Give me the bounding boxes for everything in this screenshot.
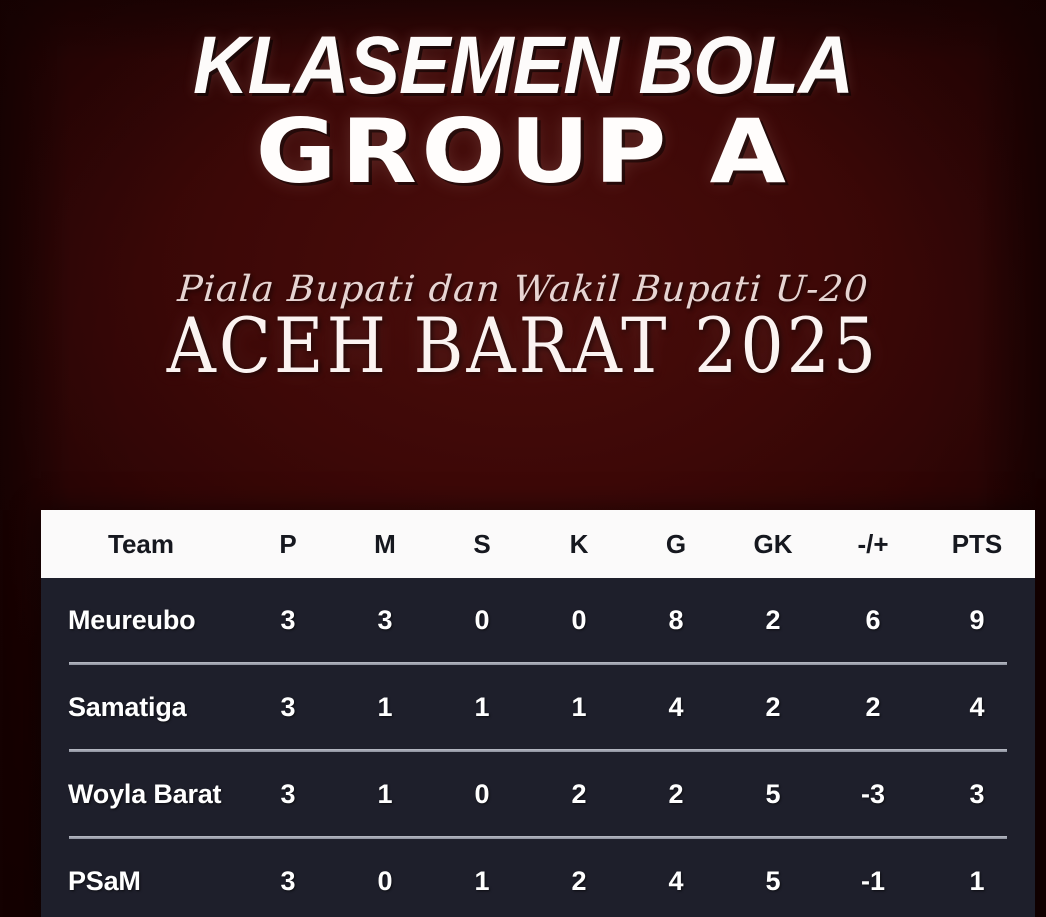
cell-gk: 5 — [723, 866, 823, 897]
cell-m: 0 — [335, 866, 435, 897]
cell-m: 3 — [335, 605, 435, 636]
table-header-row: Team P M S K G GK -/+ PTS — [41, 510, 1035, 578]
cell-team: PSaM — [41, 866, 241, 897]
cell-k: 1 — [529, 692, 629, 723]
cell-gk: 2 — [723, 692, 823, 723]
cell-diff: 6 — [823, 605, 923, 636]
cell-p: 3 — [241, 779, 335, 810]
table-row: PSaM 3 0 1 2 4 5 -1 1 — [41, 839, 1035, 917]
cell-gk: 2 — [723, 605, 823, 636]
column-header-diff: -/+ — [823, 529, 923, 560]
cell-team: Meureubo — [41, 605, 241, 636]
cell-diff: -1 — [823, 866, 923, 897]
cell-s: 1 — [435, 692, 529, 723]
table-row: Meureubo 3 3 0 0 8 2 6 9 — [41, 578, 1035, 662]
cell-team: Samatiga — [41, 692, 241, 723]
cell-team: Woyla Barat — [41, 779, 241, 810]
table-row: Woyla Barat 3 1 0 2 2 5 -3 3 — [41, 752, 1035, 836]
page-title: KLASEMEN BOLA — [31, 0, 1014, 106]
cell-pts: 4 — [923, 692, 1031, 723]
event-subtitle-block: Piala Bupati dan Wakil Bupati U-20 ACEH … — [0, 272, 1046, 381]
cell-k: 2 — [529, 866, 629, 897]
event-name-year: ACEH BARAT 2025 — [0, 304, 1046, 386]
cell-pts: 9 — [923, 605, 1031, 636]
cell-p: 3 — [241, 866, 335, 897]
cell-m: 1 — [335, 779, 435, 810]
cell-gk: 5 — [723, 779, 823, 810]
cell-diff: -3 — [823, 779, 923, 810]
cell-p: 3 — [241, 692, 335, 723]
column-header-s: S — [435, 529, 529, 560]
table-body: Meureubo 3 3 0 0 8 2 6 9 Samatiga 3 1 1 … — [41, 578, 1035, 917]
cell-diff: 2 — [823, 692, 923, 723]
standings-table: Team P M S K G GK -/+ PTS Meureubo 3 3 0… — [41, 510, 1035, 917]
cell-p: 3 — [241, 605, 335, 636]
cell-g: 2 — [629, 779, 723, 810]
cell-k: 2 — [529, 779, 629, 810]
poster-root: KLASEMEN BOLA GROUP A Piala Bupati dan W… — [0, 0, 1046, 917]
cell-s: 0 — [435, 605, 529, 636]
cell-m: 1 — [335, 692, 435, 723]
cell-k: 0 — [529, 605, 629, 636]
column-header-team: Team — [41, 529, 241, 560]
table-row: Samatiga 3 1 1 1 4 2 2 4 — [41, 665, 1035, 749]
cell-g: 4 — [629, 692, 723, 723]
cell-s: 0 — [435, 779, 529, 810]
column-header-gk: GK — [723, 529, 823, 560]
column-header-m: M — [335, 529, 435, 560]
cell-g: 8 — [629, 605, 723, 636]
column-header-p: P — [241, 529, 335, 560]
headline-block: KLASEMEN BOLA GROUP A — [0, 0, 1046, 196]
column-header-k: K — [529, 529, 629, 560]
column-header-g: G — [629, 529, 723, 560]
page-subtitle-group: GROUP A — [0, 106, 1046, 196]
cell-pts: 3 — [923, 779, 1031, 810]
cell-g: 4 — [629, 866, 723, 897]
cell-s: 1 — [435, 866, 529, 897]
column-header-pts: PTS — [923, 529, 1031, 560]
cell-pts: 1 — [923, 866, 1031, 897]
